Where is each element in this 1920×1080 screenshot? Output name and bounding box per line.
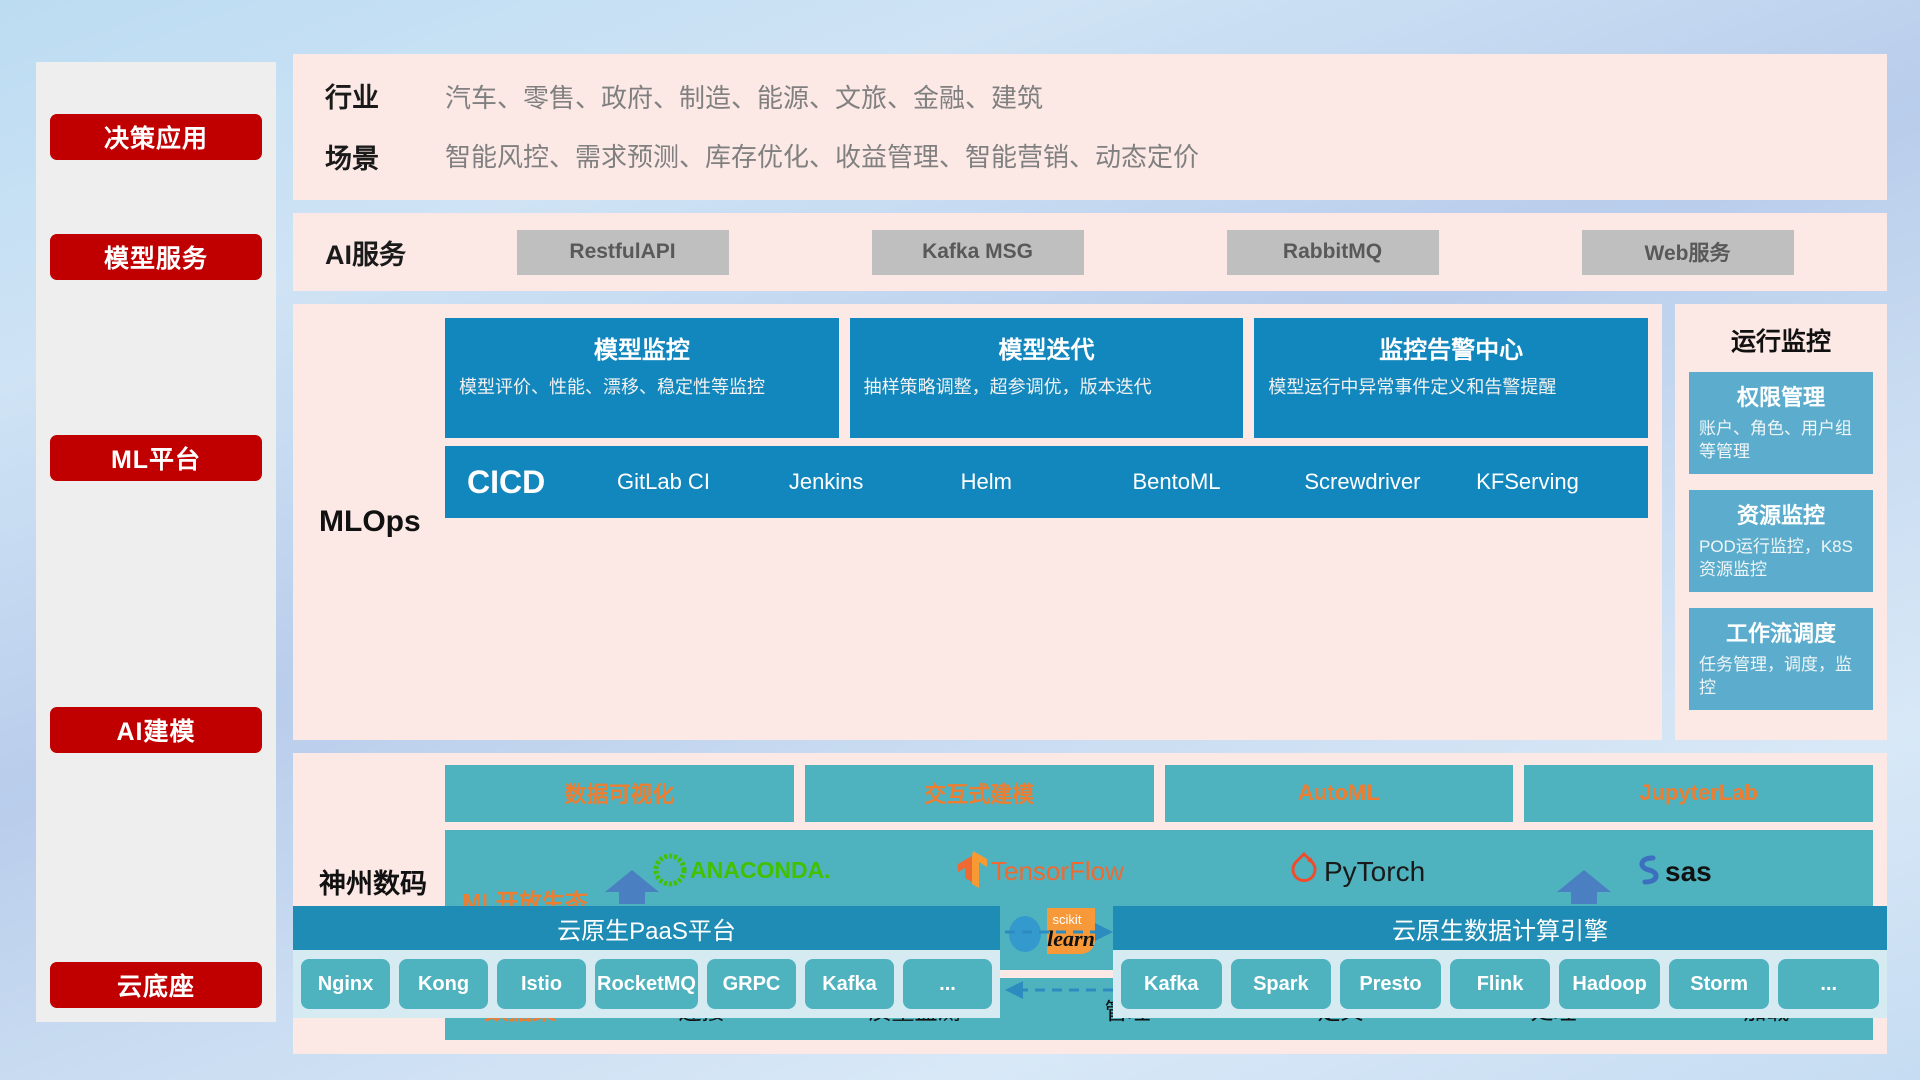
cloud-foundation-section: 云原生PaaS平台 Nginx Kong Istio RocketMQ GRPC…	[293, 880, 1887, 1050]
mlops-card-list: 模型监控 模型评价、性能、漂移、稳定性等监控 模型迭代 抽样策略调整，超参调优，…	[445, 318, 1648, 438]
bidirectional-connector	[1003, 918, 1115, 1010]
engine-chip-more[interactable]: ...	[1778, 959, 1879, 1009]
mlops-content: 模型监控 模型评价、性能、漂移、稳定性等监控 模型迭代 抽样策略调整，超参调优，…	[445, 318, 1648, 726]
up-arrow-icon	[601, 870, 663, 909]
tab-automl[interactable]: AutoML	[1165, 765, 1514, 822]
card-desc: 模型评价、性能、漂移、稳定性等监控	[459, 375, 825, 399]
industry-scenario-values: 汽车、零售、政府、制造、能源、文旅、金融、建筑 智能风控、需求预测、库存优化、收…	[445, 76, 1199, 176]
card-desc: 模型运行中异常事件定义和告警提醒	[1268, 375, 1634, 399]
engine-chip-presto[interactable]: Presto	[1340, 959, 1441, 1009]
sidebar-item-label: 云底座	[117, 967, 195, 1003]
tab-interactive-modeling[interactable]: 交互式建模	[805, 765, 1154, 822]
runtime-monitoring-panel: 运行监控 权限管理 账户、角色、用户组等管理 资源监控 POD运行监控，K8S资…	[1675, 304, 1887, 740]
cloud-paas-group: 云原生PaaS平台 Nginx Kong Istio RocketMQ GRPC…	[293, 906, 1000, 1018]
cloud-data-engine-chip-list: Kafka Spark Presto Flink Hadoop Storm ..…	[1113, 950, 1887, 1018]
cloud-paas-chip-list: Nginx Kong Istio RocketMQ GRPC Kafka ...	[293, 950, 1000, 1018]
tab-jupyterlab[interactable]: JupyterLab	[1524, 765, 1873, 822]
ai-service-chip-list: RestfulAPI Kafka MSG RabbitMQ Web服务	[445, 230, 1887, 275]
ai-service-chip-kafka-msg[interactable]: Kafka MSG	[872, 230, 1084, 275]
cloud-data-engine-group: 云原生数据计算引擎 Kafka Spark Presto Flink Hadoo…	[1113, 906, 1887, 1018]
monitor-card-permission[interactable]: 权限管理 账户、角色、用户组等管理	[1689, 372, 1873, 474]
industry-scenario-labels: 行业 场景	[293, 76, 445, 176]
card-desc: POD运行监控，K8S资源监控	[1699, 536, 1863, 582]
card-title: 资源监控	[1699, 498, 1863, 530]
ai-service-chip-web-service[interactable]: Web服务	[1582, 230, 1794, 275]
mlops-card-model-iteration[interactable]: 模型迭代 抽样策略调整，超参调优，版本迭代	[850, 318, 1244, 438]
ml-lab-tool-tabs: 数据可视化 交互式建模 AutoML JupyterLab	[445, 765, 1873, 822]
cloud-paas-title: 云原生PaaS平台	[293, 906, 1000, 950]
sidebar-item-ai-modeling[interactable]: AI建模	[50, 707, 262, 753]
cloud-chip-kong[interactable]: Kong	[399, 959, 488, 1009]
cicd-item-gitlab-ci[interactable]: GitLab CI	[617, 469, 789, 494]
cicd-item-jenkins[interactable]: Jenkins	[789, 469, 961, 494]
ai-service-label: AI服务	[293, 233, 445, 272]
card-desc: 抽样策略调整，超参调优，版本迭代	[864, 375, 1230, 399]
runtime-monitoring-title: 运行监控	[1689, 322, 1873, 358]
mlops-label: MLOps	[293, 318, 445, 726]
cloud-data-engine-title: 云原生数据计算引擎	[1113, 906, 1887, 950]
industry-label: 行业	[325, 76, 445, 115]
cloud-chip-kafka[interactable]: Kafka	[805, 959, 894, 1009]
cicd-item-bentoml[interactable]: BentoML	[1132, 469, 1304, 494]
card-desc: 任务管理，调度，监控	[1699, 654, 1863, 700]
engine-chip-flink[interactable]: Flink	[1450, 959, 1551, 1009]
card-title: 模型迭代	[864, 330, 1230, 365]
cicd-bar: CICD GitLab CI Jenkins Helm BentoML Scre…	[445, 446, 1648, 518]
card-title: 模型监控	[459, 330, 825, 365]
engine-chip-kafka[interactable]: Kafka	[1121, 959, 1222, 1009]
scenario-label: 场景	[325, 137, 445, 176]
cloud-chip-grpc[interactable]: GRPC	[707, 959, 796, 1009]
cicd-item-list: GitLab CI Jenkins Helm BentoML Screwdriv…	[617, 469, 1648, 494]
layer-sidebar: 决策应用 模型服务 ML平台 AI建模 云底座	[36, 62, 276, 1022]
cloud-chip-istio[interactable]: Istio	[497, 959, 586, 1009]
monitor-card-resource[interactable]: 资源监控 POD运行监控，K8S资源监控	[1689, 490, 1873, 592]
cicd-title: CICD	[467, 464, 617, 501]
ai-service-panel: AI服务 RestfulAPI Kafka MSG RabbitMQ Web服务	[293, 213, 1887, 291]
ai-service-chip-rabbitmq[interactable]: RabbitMQ	[1227, 230, 1439, 275]
card-desc: 账户、角色、用户组等管理	[1699, 418, 1863, 464]
cloud-chip-nginx[interactable]: Nginx	[301, 959, 390, 1009]
monitor-card-workflow[interactable]: 工作流调度 任务管理，调度，监控	[1689, 608, 1873, 710]
cicd-item-screwdriver[interactable]: Screwdriver	[1304, 469, 1476, 494]
engine-chip-hadoop[interactable]: Hadoop	[1559, 959, 1660, 1009]
scenario-list: 智能风控、需求预测、库存优化、收益管理、智能营销、动态定价	[445, 137, 1199, 174]
sidebar-item-label: 决策应用	[104, 119, 208, 155]
cloud-chip-more[interactable]: ...	[903, 959, 992, 1009]
engine-chip-storm[interactable]: Storm	[1669, 959, 1770, 1009]
sidebar-item-label: ML平台	[111, 440, 201, 476]
cicd-item-kfserving[interactable]: KFServing	[1476, 469, 1648, 494]
cicd-item-helm[interactable]: Helm	[961, 469, 1133, 494]
sidebar-item-ml-platform[interactable]: ML平台	[50, 435, 262, 481]
mlops-card-model-monitoring[interactable]: 模型监控 模型评价、性能、漂移、稳定性等监控	[445, 318, 839, 438]
sidebar-item-label: 模型服务	[104, 239, 208, 275]
industry-list: 汽车、零售、政府、制造、能源、文旅、金融、建筑	[445, 78, 1199, 115]
industry-scenario-panel: 行业 场景 汽车、零售、政府、制造、能源、文旅、金融、建筑 智能风控、需求预测、…	[293, 54, 1887, 200]
mlops-panel: MLOps 模型监控 模型评价、性能、漂移、稳定性等监控 模型迭代 抽样策略调整…	[293, 304, 1662, 740]
sidebar-item-model-service[interactable]: 模型服务	[50, 234, 262, 280]
tab-data-visualization[interactable]: 数据可视化	[445, 765, 794, 822]
ml-platform-row: MLOps 模型监控 模型评价、性能、漂移、稳定性等监控 模型迭代 抽样策略调整…	[293, 304, 1887, 740]
cloud-chip-rocketmq[interactable]: RocketMQ	[595, 959, 698, 1009]
up-arrow-icon	[1553, 870, 1615, 909]
ai-service-chip-restfulapi[interactable]: RestfulAPI	[517, 230, 729, 275]
sidebar-item-decision-app[interactable]: 决策应用	[50, 114, 262, 160]
card-title: 工作流调度	[1699, 616, 1863, 648]
sidebar-item-cloud-foundation[interactable]: 云底座	[50, 962, 262, 1008]
mlops-card-alert-center[interactable]: 监控告警中心 模型运行中异常事件定义和告警提醒	[1254, 318, 1648, 438]
card-title: 监控告警中心	[1268, 330, 1634, 365]
svg-text:ANACONDA.: ANACONDA.	[690, 857, 831, 883]
sidebar-item-label: AI建模	[116, 712, 195, 748]
engine-chip-spark[interactable]: Spark	[1231, 959, 1332, 1009]
card-title: 权限管理	[1699, 380, 1863, 412]
